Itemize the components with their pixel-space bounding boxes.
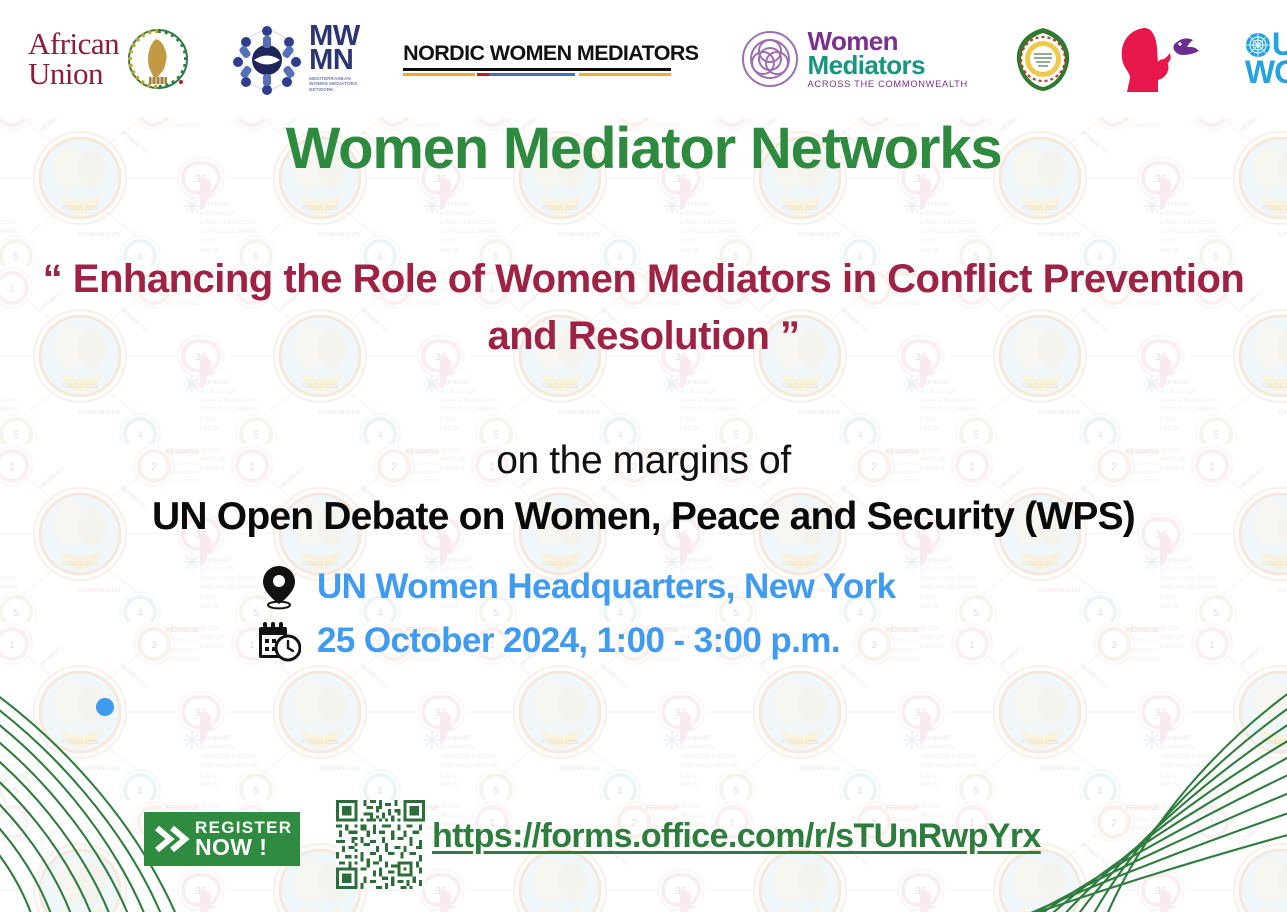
datetime-row: 25 October 2024, 1:00 - 3:00 p.m. bbox=[255, 617, 896, 665]
partner-logo-bar: African Union bbox=[0, 0, 1287, 118]
wmc-line2: Mediators bbox=[808, 54, 968, 78]
decorative-swirl-left bbox=[0, 676, 320, 912]
african-union-line1: African bbox=[28, 29, 119, 59]
event-theme-quote: “ Enhancing the Role of Women Mediators … bbox=[0, 251, 1287, 365]
registration-url-link[interactable]: https://forms.office.com/r/sTUnRwpYrx bbox=[432, 817, 1041, 856]
wmc-line3: ACROSS THE COMMONWEALTH bbox=[808, 80, 968, 89]
nordic-rule-bars bbox=[403, 68, 671, 77]
calendar-clock-icon bbox=[255, 617, 303, 665]
african-union-line2: Union bbox=[28, 59, 119, 89]
decorative-blue-dot bbox=[96, 698, 114, 716]
logo-arab-women-mediators-network bbox=[1114, 22, 1206, 96]
logo-un-women: UN WOMEN bbox=[1244, 28, 1287, 90]
wmc-wordmark: Women Mediators ACROSS THE COMMONWEALTH bbox=[808, 30, 968, 88]
arab-league-emblem-icon bbox=[1010, 24, 1076, 94]
mwmn-subtitle: MEDITERRANEAN WOMEN MEDIATORS NETWORK bbox=[309, 76, 369, 93]
wmc-rosette-icon bbox=[739, 28, 801, 90]
nordic-women-mediators-wordmark: NORDIC WOMEN MEDIATORS bbox=[403, 41, 698, 66]
location-pin-icon bbox=[255, 563, 303, 611]
host-event-name: UN Open Debate on Women, Peace and Secur… bbox=[0, 497, 1287, 536]
logo-women-mediators-commonwealth: Women Mediators ACROSS THE COMMONWEALTH bbox=[739, 28, 968, 90]
african-union-emblem-icon bbox=[126, 27, 190, 91]
register-now-button[interactable]: REGISTER NOW ! bbox=[144, 812, 300, 866]
register-label-line2: NOW ! bbox=[195, 836, 292, 858]
un-women-line2: WOMEN bbox=[1245, 59, 1287, 87]
african-union-wordmark: African Union bbox=[28, 29, 119, 90]
venue-text: UN Women Headquarters, New York bbox=[317, 567, 896, 607]
un-women-wordmark: UN WOMEN bbox=[1245, 31, 1287, 86]
register-button-labels: REGISTER NOW ! bbox=[195, 820, 292, 858]
mwmn-wordmark: MW MN MEDITERRANEAN WOMEN MEDIATORS NETW… bbox=[309, 25, 369, 93]
venue-row: UN Women Headquarters, New York bbox=[255, 563, 896, 611]
logo-african-union: African Union bbox=[28, 27, 190, 91]
double-chevron-right-icon bbox=[151, 819, 191, 859]
datetime-text: 25 October 2024, 1:00 - 3:00 p.m. bbox=[317, 621, 840, 661]
mwmn-line2: MN bbox=[309, 49, 369, 73]
qr-code-icon[interactable] bbox=[336, 800, 425, 889]
margins-label: on the margins of bbox=[0, 441, 1287, 480]
quote-body: Enhancing the Role of Women Mediators in… bbox=[62, 257, 1244, 358]
logo-nordic-women-mediators: NORDIC WOMEN MEDIATORS bbox=[403, 41, 698, 77]
decorative-swirl-right bbox=[953, 676, 1287, 912]
event-poster: FONDS 2019 MEMBER 2 MEMBER 7x1 COUNTRIES… bbox=[0, 0, 1287, 912]
woman-with-dove-icon bbox=[1114, 22, 1206, 96]
quote-close-mark: ” bbox=[780, 314, 800, 358]
mwmn-emblem-icon bbox=[230, 22, 304, 96]
logo-mediterranean-women-mediators-network: MW MN MEDITERRANEAN WOMEN MEDIATORS NETW… bbox=[230, 22, 369, 96]
quote-open-mark: “ bbox=[43, 257, 63, 301]
logo-league-of-arab-states bbox=[1010, 24, 1076, 94]
event-details: UN Women Headquarters, New York bbox=[255, 563, 896, 665]
